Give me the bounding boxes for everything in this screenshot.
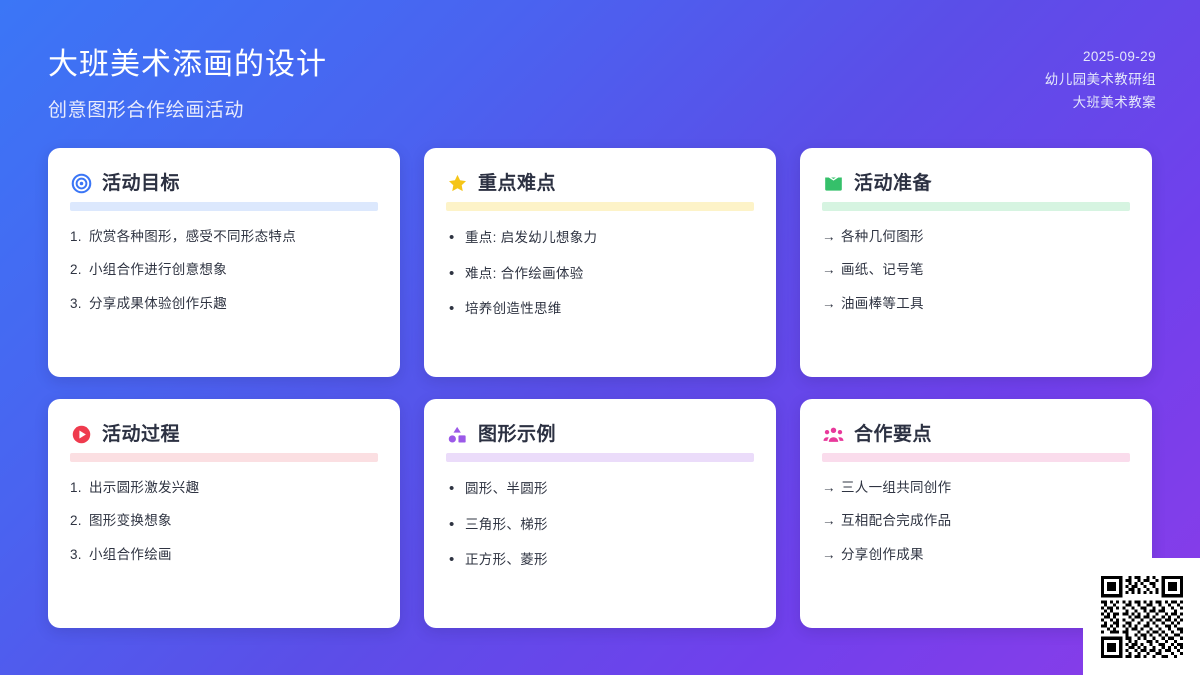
list-item-text: 出示圆形激发兴趣 (89, 478, 378, 498)
card-title: 合作要点 (854, 425, 932, 444)
list-item-text: 圆形、半圆形 (465, 479, 754, 499)
list-item: •圆形、半圆形 (446, 478, 754, 501)
card-item-list: •圆形、半圆形•三角形、梯形•正方形、菱形 (446, 478, 754, 572)
list-marker-bullet: • (446, 298, 465, 321)
card-title-underline (70, 202, 378, 211)
page-subtitle: 创意图形合作绘画活动 (48, 95, 327, 122)
list-item: →油画棒等工具 (822, 294, 1130, 314)
list-item-text: 难点: 合作绘画体验 (465, 264, 754, 284)
list-item: →互相配合完成作品 (822, 511, 1130, 531)
slide-header: 大班美术添画的设计 创意图形合作绘画活动 2025-09-29 幼儿园美术教研组… (0, 0, 1200, 148)
card-header: 重点难点 (446, 170, 754, 196)
play-circle-icon (70, 423, 92, 445)
card-header: 活动目标 (70, 170, 378, 196)
list-item-text: 小组合作绘画 (89, 545, 378, 565)
list-item: •三角形、梯形 (446, 514, 754, 537)
list-item: •难点: 合作绘画体验 (446, 263, 754, 286)
card-grid: 活动目标1.欣赏各种图形，感受不同形态特点2.小组合作进行创意想象3.分享成果体… (48, 148, 1152, 628)
header-meta-block: 2025-09-29 幼儿园美术教研组 大班美术教案 (1045, 40, 1156, 115)
list-item-text: 培养创造性思维 (465, 299, 754, 319)
content-card: 活动准备→各种几何图形→画纸、记号笔→油画棒等工具 (800, 148, 1152, 377)
list-marker-number: 2. (70, 260, 89, 280)
list-item: 2.图形变换想象 (70, 511, 378, 531)
list-item: •正方形、菱形 (446, 549, 754, 572)
list-item: →画纸、记号笔 (822, 260, 1130, 280)
list-item: →三人一组共同创作 (822, 478, 1130, 498)
list-marker-bullet: • (446, 549, 465, 572)
card-title: 活动过程 (102, 425, 180, 444)
list-marker-bullet: • (446, 514, 465, 537)
list-item-text: 欣赏各种图形，感受不同形态特点 (89, 227, 378, 247)
star-icon (446, 172, 468, 194)
list-marker-bullet: • (446, 263, 465, 286)
card-item-list: →三人一组共同创作→互相配合完成作品→分享创作成果 (822, 478, 1130, 565)
card-header: 活动过程 (70, 421, 378, 447)
list-item: 3.分享成果体验创作乐趣 (70, 294, 378, 314)
list-item: •重点: 启发幼儿想象力 (446, 227, 754, 250)
list-item-text: 重点: 启发幼儿想象力 (465, 228, 754, 248)
list-item: →各种几何图形 (822, 227, 1130, 247)
qr-code-icon (1098, 573, 1186, 661)
list-marker-number: 2. (70, 511, 89, 531)
list-marker-number: 3. (70, 545, 89, 565)
meta-date: 2025-09-29 (1045, 45, 1156, 68)
card-title: 活动准备 (854, 174, 932, 193)
list-marker-bullet: • (446, 478, 465, 501)
card-title: 重点难点 (478, 174, 556, 193)
card-title-underline (822, 202, 1130, 211)
list-item: 1.欣赏各种图形，感受不同形态特点 (70, 227, 378, 247)
target-icon (70, 172, 92, 194)
list-marker-arrow: → (822, 227, 841, 247)
content-card: 活动过程1.出示圆形激发兴趣2.图形变换想象3.小组合作绘画 (48, 399, 400, 628)
list-item: •培养创造性思维 (446, 298, 754, 321)
card-title: 活动目标 (102, 174, 180, 193)
list-item-text: 正方形、菱形 (465, 550, 754, 570)
card-item-list: •重点: 启发幼儿想象力•难点: 合作绘画体验•培养创造性思维 (446, 227, 754, 321)
list-marker-number: 1. (70, 478, 89, 498)
card-header: 活动准备 (822, 170, 1130, 196)
list-item-text: 互相配合完成作品 (841, 511, 1130, 531)
list-marker-arrow: → (822, 511, 841, 531)
list-item-text: 图形变换想象 (89, 511, 378, 531)
meta-organization: 幼儿园美术教研组 (1045, 68, 1156, 91)
content-card: 图形示例•圆形、半圆形•三角形、梯形•正方形、菱形 (424, 399, 776, 628)
list-marker-arrow: → (822, 260, 841, 280)
qr-code-panel (1083, 558, 1200, 675)
list-item: 1.出示圆形激发兴趣 (70, 478, 378, 498)
meta-doc-type: 大班美术教案 (1045, 91, 1156, 114)
list-item-text: 小组合作进行创意想象 (89, 260, 378, 280)
list-item: 3.小组合作绘画 (70, 545, 378, 565)
card-title-underline (446, 453, 754, 462)
list-marker-bullet: • (446, 227, 465, 250)
list-marker-number: 1. (70, 227, 89, 247)
card-title-underline (446, 202, 754, 211)
card-title-underline (822, 453, 1130, 462)
shapes-icon (446, 423, 468, 445)
page-title: 大班美术添画的设计 (48, 46, 327, 84)
card-title-underline (70, 453, 378, 462)
list-item-text: 各种几何图形 (841, 227, 1130, 247)
list-item-text: 三人一组共同创作 (841, 478, 1130, 498)
list-item-text: 三角形、梯形 (465, 515, 754, 535)
list-item-text: 画纸、记号笔 (841, 260, 1130, 280)
card-header: 图形示例 (446, 421, 754, 447)
card-item-list: 1.欣赏各种图形，感受不同形态特点2.小组合作进行创意想象3.分享成果体验创作乐… (70, 227, 378, 314)
content-card: 重点难点•重点: 启发幼儿想象力•难点: 合作绘画体验•培养创造性思维 (424, 148, 776, 377)
card-item-list: 1.出示圆形激发兴趣2.图形变换想象3.小组合作绘画 (70, 478, 378, 565)
box-icon (822, 172, 844, 194)
list-item-text: 油画棒等工具 (841, 294, 1130, 314)
header-title-block: 大班美术添画的设计 创意图形合作绘画活动 (48, 40, 327, 122)
list-marker-arrow: → (822, 294, 841, 314)
list-marker-arrow: → (822, 478, 841, 498)
card-title: 图形示例 (478, 425, 556, 444)
card-item-list: →各种几何图形→画纸、记号笔→油画棒等工具 (822, 227, 1130, 314)
list-marker-arrow: → (822, 545, 841, 565)
list-item: 2.小组合作进行创意想象 (70, 260, 378, 280)
list-marker-number: 3. (70, 294, 89, 314)
card-header: 合作要点 (822, 421, 1130, 447)
people-group-icon (822, 423, 844, 445)
list-item-text: 分享成果体验创作乐趣 (89, 294, 378, 314)
content-card: 活动目标1.欣赏各种图形，感受不同形态特点2.小组合作进行创意想象3.分享成果体… (48, 148, 400, 377)
